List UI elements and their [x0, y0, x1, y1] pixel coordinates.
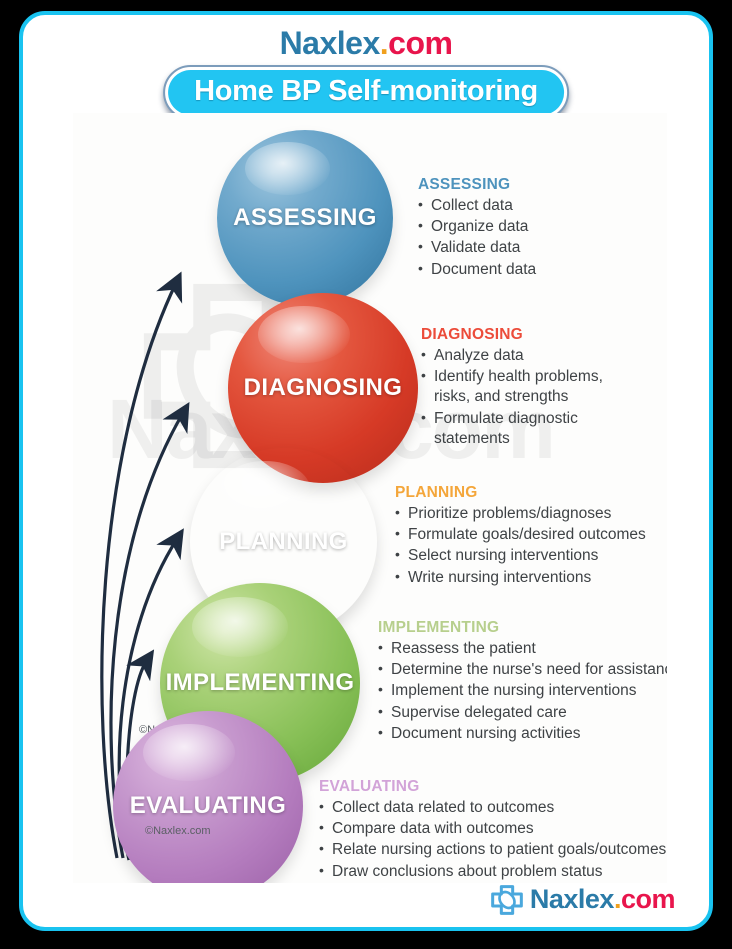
list-item: Identify health problems, risks, and str…: [421, 367, 636, 407]
list-item: Document data: [418, 260, 667, 280]
step-heading: EVALUATING: [319, 777, 667, 797]
step-heading: IMPLEMENTING: [378, 618, 667, 638]
step-bullet-list: Collect data Organize data Validate data…: [418, 196, 667, 280]
list-item: Implement the nursing interventions: [378, 681, 667, 701]
brand-name: Naxlex: [280, 25, 380, 61]
step-heading: PLANNING: [395, 483, 667, 503]
list-item: Write nursing interventions: [395, 568, 667, 588]
poster-background: Naxlex.com Home BP Self-monitoring Naxle…: [0, 0, 732, 949]
sphere-label: ASSESSING: [233, 204, 377, 232]
title-banner-label: Home BP Self-monitoring: [168, 70, 564, 115]
sphere-highlight: [143, 724, 234, 781]
step-details-assessing: ASSESSING Collect data Organize data Val…: [418, 175, 667, 281]
list-item: Select nursing interventions: [395, 546, 667, 566]
sphere-label: DIAGNOSING: [244, 374, 403, 402]
step-details-planning: PLANNING Prioritize problems/diagnoses F…: [395, 483, 667, 589]
list-item: Formulate goals/desired outcomes: [395, 525, 667, 545]
list-item: Draw conclusions about problem status: [319, 862, 667, 882]
step-bullet-list: Prioritize problems/diagnoses Formulate …: [395, 504, 667, 588]
list-item: Relate nursing actions to patient goals/…: [319, 840, 667, 860]
sphere-highlight: [192, 597, 288, 657]
sphere-label: IMPLEMENTING: [166, 669, 355, 697]
footer-logo[interactable]: Naxlex.com: [490, 884, 675, 915]
step-bullet-list: Analyze data Identify health problems, r…: [421, 346, 636, 449]
step-details-evaluating: EVALUATING Collect data related to outco…: [319, 777, 667, 883]
sphere-highlight: [220, 461, 310, 517]
list-item: Analyze data: [421, 346, 636, 366]
footer-brand-tld: com: [621, 884, 675, 914]
brand-tld: com: [388, 25, 452, 61]
list-item: Formulate diagnostic statements: [421, 409, 636, 449]
list-item: Compare data with outcomes: [319, 819, 667, 839]
step-heading: ASSESSING: [418, 175, 667, 195]
footer-logo-text: Naxlex.com: [530, 884, 675, 915]
step-heading: DIAGNOSING: [421, 325, 636, 345]
poster-card: Naxlex.com Home BP Self-monitoring Naxle…: [19, 11, 713, 931]
page-title: Naxlex.com: [23, 25, 709, 62]
step-details-implementing: IMPLEMENTING Reassess the patient Determ…: [378, 618, 667, 745]
footer-brand-name: Naxlex: [530, 884, 614, 914]
sphere-label: PLANNING: [219, 528, 348, 556]
sphere-label: EVALUATING: [130, 792, 286, 820]
list-item: Collect data related to outcomes: [319, 798, 667, 818]
sphere-highlight: [258, 306, 349, 363]
list-item: Reassess the patient: [378, 639, 667, 659]
list-item: Document nursing activities: [378, 724, 667, 744]
list-item: Validate data: [418, 238, 667, 258]
step-bullet-list: Reassess the patient Determine the nurse…: [378, 639, 667, 744]
list-item: Supervise delegated care: [378, 703, 667, 723]
diagram-panel: Naxlex.com ©Naxlex.com A: [73, 113, 667, 883]
watermark-copyright-bottom: ©Naxlex.com: [145, 825, 211, 837]
list-item: Prioritize problems/diagnoses: [395, 504, 667, 524]
step-bullet-list: Collect data related to outcomes Compare…: [319, 798, 667, 883]
naxlex-cross-leaf-icon: [490, 885, 524, 915]
sphere-highlight: [245, 142, 329, 195]
title-banner: Home BP Self-monitoring: [163, 65, 569, 120]
footer-brand-dot: .: [614, 884, 621, 914]
step-details-diagnosing: DIAGNOSING Analyze data Identify health …: [421, 325, 636, 450]
list-item: Determine the nurse's need for assistanc…: [378, 660, 667, 680]
list-item: Collect data: [418, 196, 667, 216]
list-item: Organize data: [418, 217, 667, 237]
step-sphere-assessing[interactable]: ASSESSING: [217, 130, 393, 306]
brand-dot: .: [380, 25, 388, 61]
